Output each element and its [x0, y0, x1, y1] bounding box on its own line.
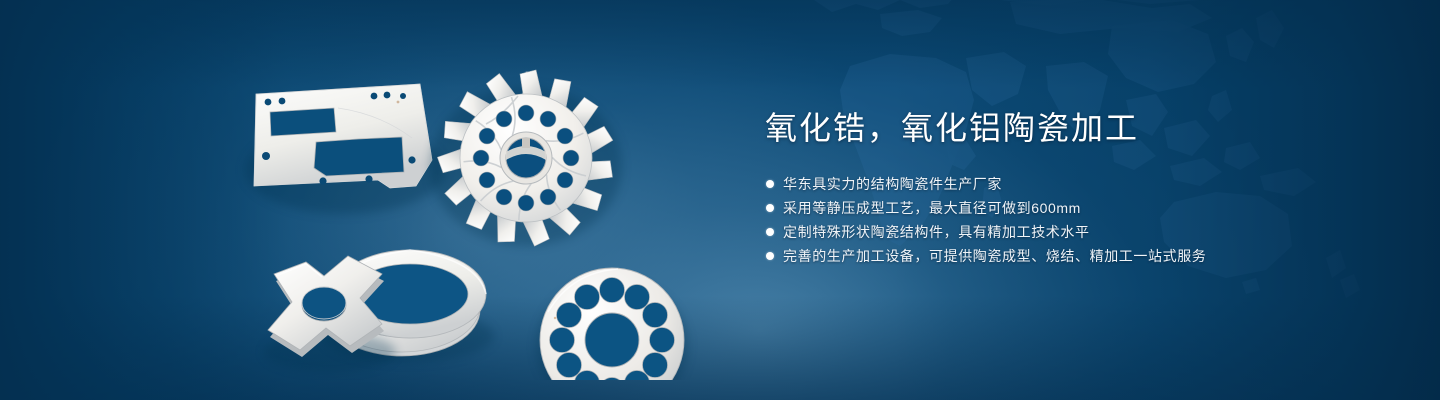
feature-text: 定制特殊形状陶瓷结构件，具有精加工技术水平	[783, 224, 1090, 241]
ceramic-plate	[245, 84, 445, 214]
hero-banner: 氧化锆，氧化铝陶瓷加工 华东具实力的结构陶瓷件生产厂家 采用等静压成型工艺，最大…	[0, 0, 1440, 400]
list-item: 定制特殊形状陶瓷结构件，具有精加工技术水平	[765, 224, 1385, 241]
bullet-dot-icon	[766, 180, 774, 188]
page-title: 氧化锆，氧化铝陶瓷加工	[765, 108, 1385, 150]
feature-list: 华东具实力的结构陶瓷件生产厂家 采用等静压成型工艺，最大直径可做到600mm 定…	[765, 176, 1385, 265]
feature-text: 华东具实力的结构陶瓷件生产厂家	[783, 176, 1002, 193]
list-item: 采用等静压成型工艺，最大直径可做到600mm	[765, 200, 1385, 217]
feature-text: 采用等静压成型工艺，最大直径可做到600mm	[783, 200, 1081, 217]
bullet-dot-icon	[766, 252, 774, 260]
feature-text: 完善的生产加工设备，可提供陶瓷成型、烧结、精加工一站式服务	[783, 248, 1206, 265]
banner-copy: 氧化锆，氧化铝陶瓷加工 华东具实力的结构陶瓷件生产厂家 采用等静压成型工艺，最大…	[765, 108, 1385, 272]
list-item: 完善的生产加工设备，可提供陶瓷成型、烧结、精加工一站式服务	[765, 248, 1385, 265]
bullet-dot-icon	[766, 204, 774, 212]
bullet-dot-icon	[766, 228, 774, 236]
ceramic-perforated-disc	[536, 268, 688, 380]
ceramic-impeller	[430, 70, 622, 247]
list-item: 华东具实力的结构陶瓷件生产厂家	[765, 176, 1385, 193]
product-photo-group	[230, 40, 730, 380]
